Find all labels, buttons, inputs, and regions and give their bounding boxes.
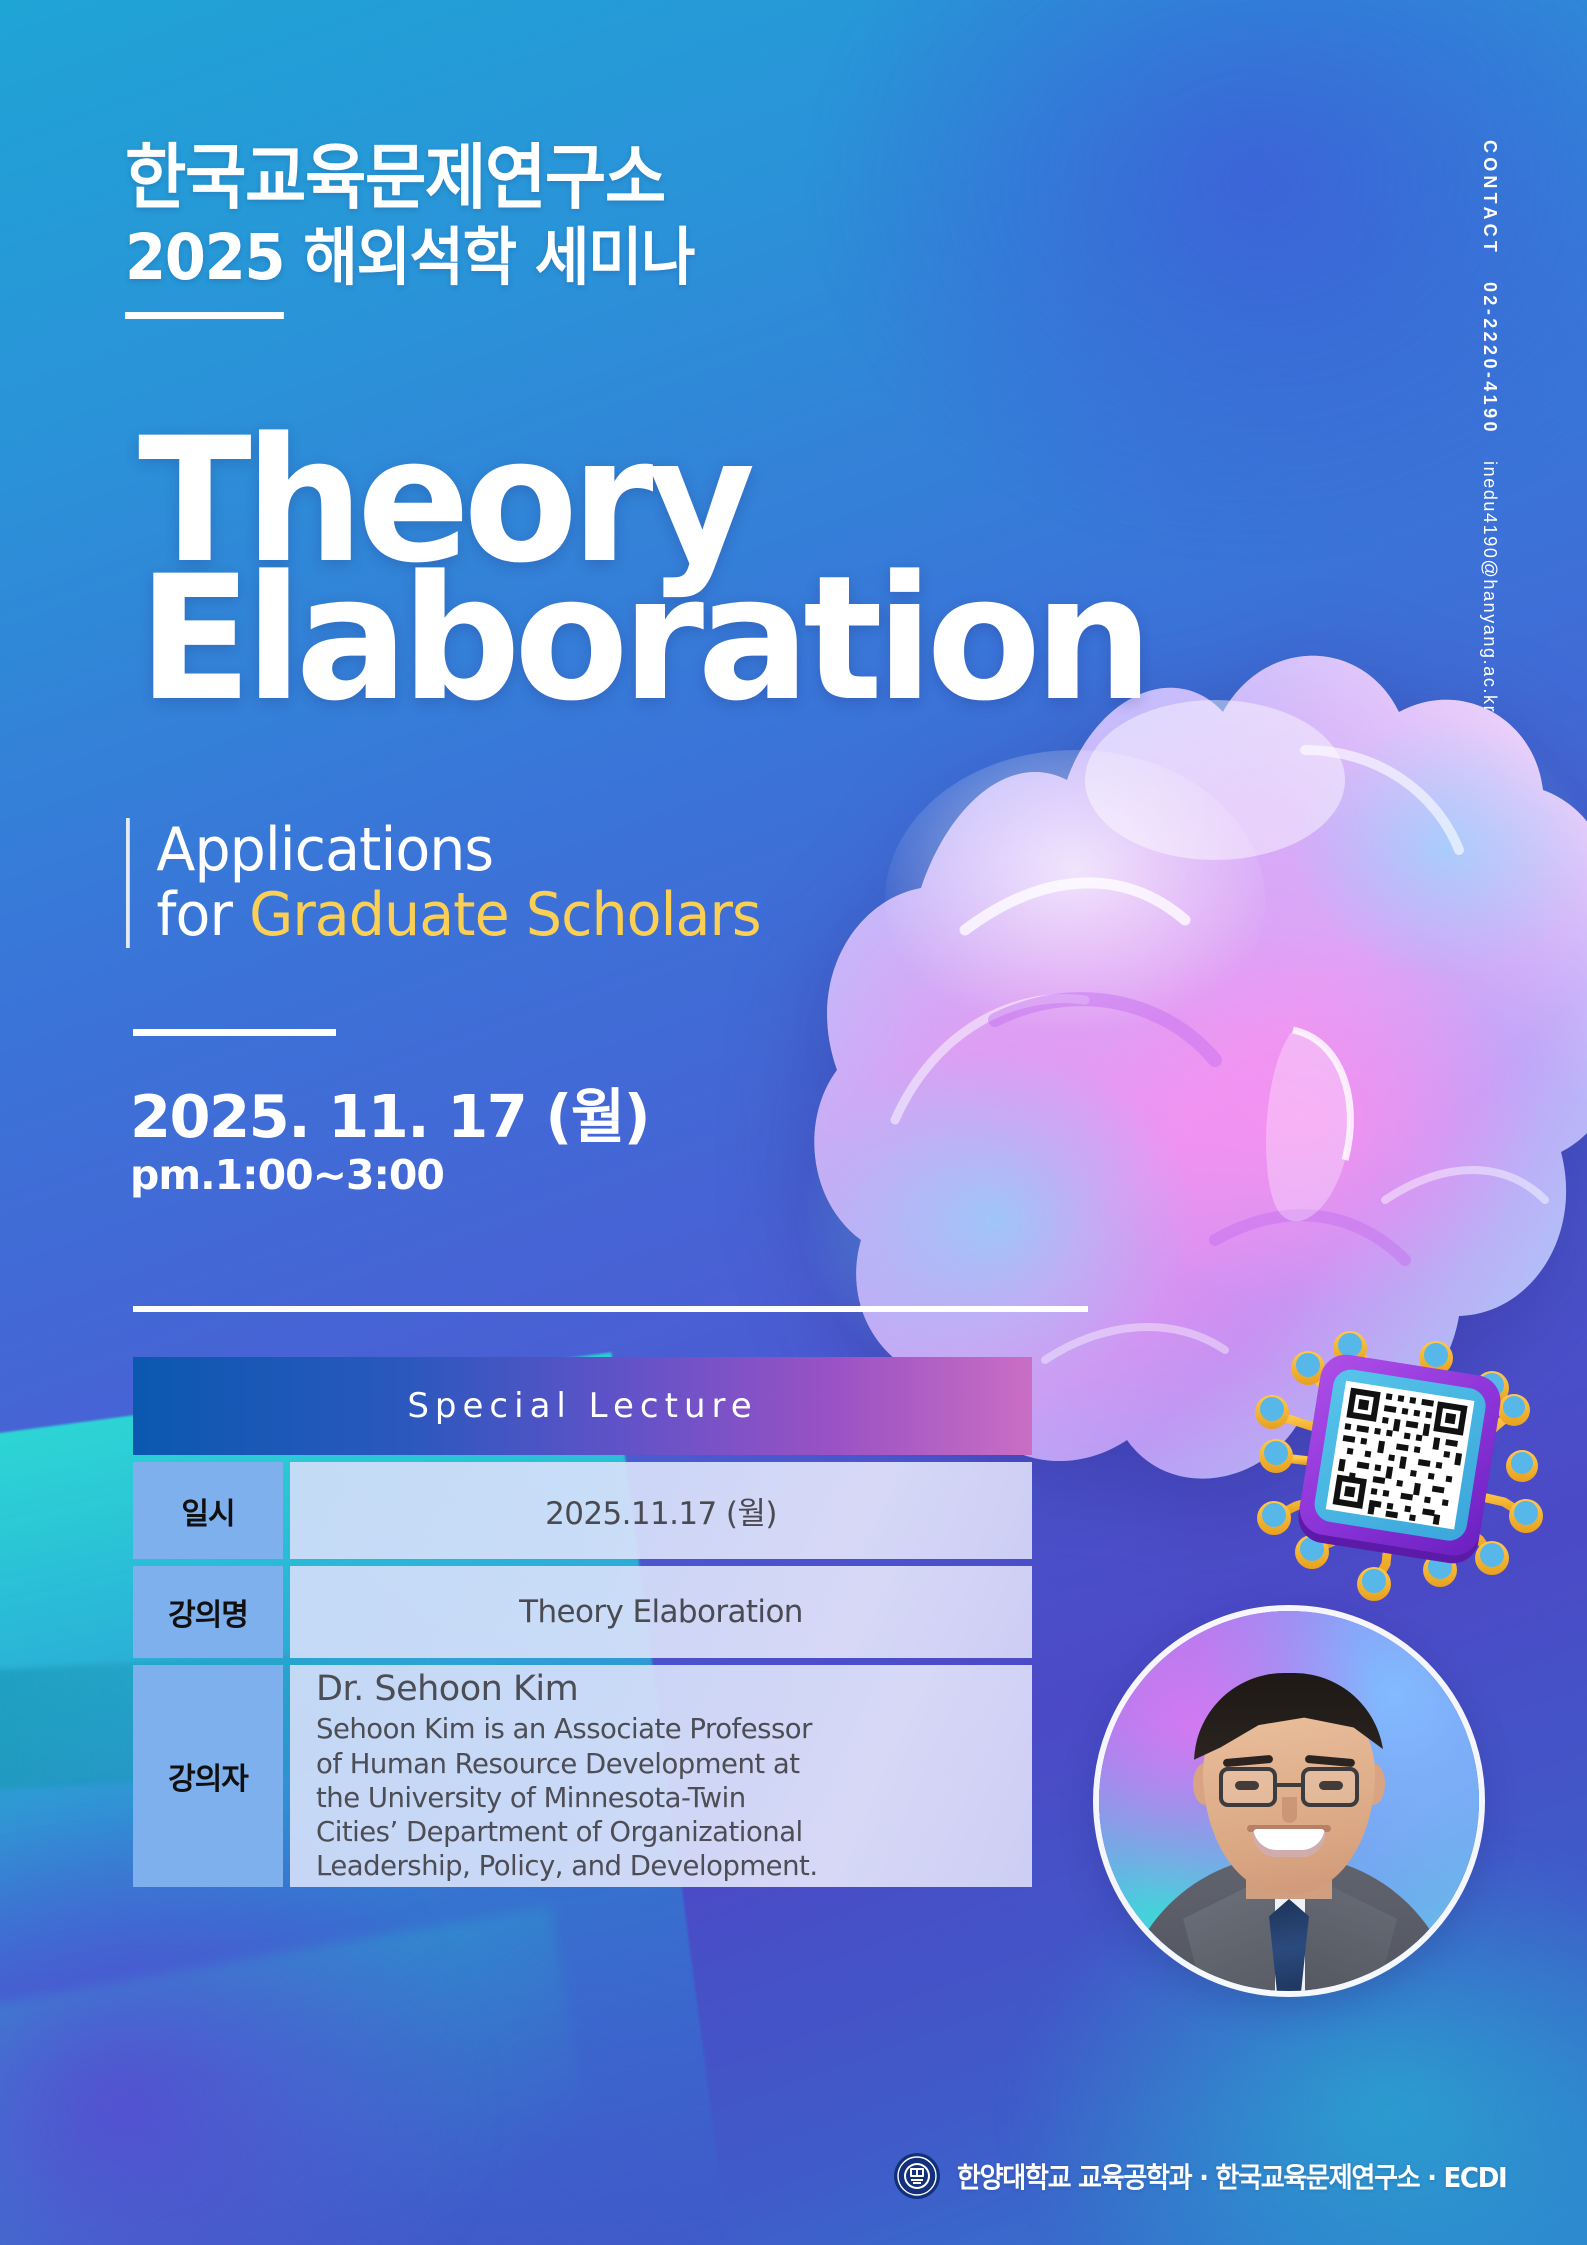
schedule-time: pm.1:00~3:00 <box>130 1151 649 1199</box>
subtitle-line-2: for Graduate Scholars <box>156 883 760 948</box>
speaker-bio: Sehoon Kim is an Associate Professor of … <box>316 1712 818 1882</box>
contact-email: inedu4190@hanyang.ac.kr <box>1479 461 1500 713</box>
seminar-year: 2025 <box>125 221 284 319</box>
portrait-smile <box>1253 1829 1325 1857</box>
portrait-nose <box>1282 1797 1297 1823</box>
portrait-eyeglass-bridge <box>1277 1783 1301 1787</box>
table-row-label: 일시 <box>133 1462 283 1559</box>
table-row-label: 강의자 <box>133 1665 283 1887</box>
table-header: Special Lecture <box>133 1357 1032 1455</box>
portrait-eyeglass-right <box>1301 1767 1359 1807</box>
korean-header: 한국교육문제연구소 2025 해외석학 세미나 <box>125 142 1025 289</box>
subtitle-line-2-plain: for <box>156 880 249 950</box>
contact-phone: 02-2220-4190 <box>1479 282 1500 435</box>
schedule-date: 2025. 11. 17 (월) <box>130 1085 649 1149</box>
title-line-2: Elaboration <box>138 570 1146 708</box>
portrait-eyeglass-left <box>1219 1767 1277 1807</box>
speaker-portrait-avatar <box>1093 1605 1485 1997</box>
page-title: Theory Elaboration <box>138 432 1146 707</box>
schedule-block: 2025. 11. 17 (월) pm.1:00~3:00 <box>130 1085 649 1199</box>
table-row-speaker: 강의자 Dr. Sehoon Kim Sehoon Kim is an Asso… <box>133 1665 1032 1887</box>
footer: 한양대학교 교육공학과 · 한국교육문제연구소 · ECDI <box>893 2152 1548 2200</box>
qr-code-chip-icon[interactable] <box>1236 1296 1556 1616</box>
lecture-info-table: Special Lecture 일시 2025.11.17 (월) 강의명 Th… <box>133 1357 1032 1887</box>
table-row: 일시 2025.11.17 (월) <box>133 1462 1032 1559</box>
footer-organizations: 한양대학교 교육공학과 · 한국교육문제연구소 · ECDI <box>957 2156 1506 2196</box>
seminar-name: 2025 해외석학 세미나 <box>125 226 971 289</box>
divider-long <box>133 1306 1088 1312</box>
speaker-name: Dr. Sehoon Kim <box>316 1669 578 1710</box>
university-seal-icon <box>893 2152 941 2200</box>
contact-label: CONTACT <box>1479 140 1500 256</box>
seminar-name-rest: 해외석학 세미나 <box>284 221 694 294</box>
subtitle: Applications for Graduate Scholars <box>126 818 761 948</box>
table-row: 강의명 Theory Elaboration <box>133 1566 1032 1658</box>
table-row-label: 강의명 <box>133 1566 283 1658</box>
table-row-value: Dr. Sehoon Kim Sehoon Kim is an Associat… <box>290 1665 1032 1887</box>
subtitle-line-2-accent: Graduate Scholars <box>249 880 761 950</box>
seminar-poster: 한국교육문제연구소 2025 해외석학 세미나 CONTACT 02-2220-… <box>0 0 1587 2245</box>
table-row-value: Theory Elaboration <box>290 1566 1032 1658</box>
divider-short <box>133 1029 336 1036</box>
contact-block: CONTACT 02-2220-4190 inedu4190@hanyang.a… <box>1479 140 1523 880</box>
institute-name: 한국교육문제연구소 <box>125 142 971 213</box>
subtitle-line-1: Applications <box>156 818 760 883</box>
table-row-value: 2025.11.17 (월) <box>290 1462 1032 1559</box>
